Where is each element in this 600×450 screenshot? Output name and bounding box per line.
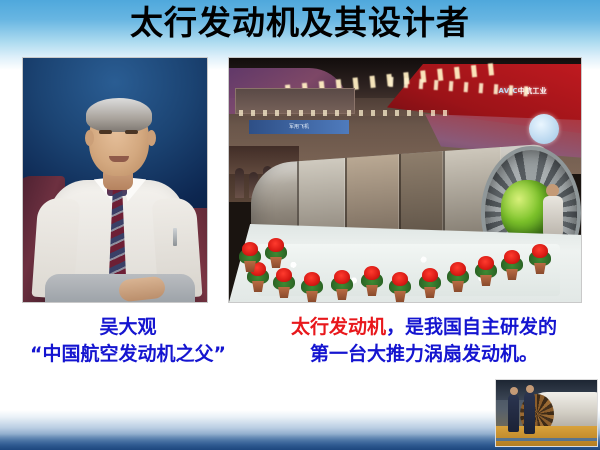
engine-photo: AVIC中航工业 军用飞机: [228, 57, 582, 303]
slide-title: 太行发动机及其设计者: [0, 2, 600, 46]
smiling-mouth: [109, 156, 129, 162]
engine-caption-line1: 太行发动机，是我国自主研发的: [248, 314, 600, 341]
technician-figure: [524, 392, 535, 434]
engine-emblem: [529, 114, 559, 144]
technician-figure: [508, 394, 519, 432]
flower-border: [229, 232, 581, 302]
eye-left: [99, 130, 112, 134]
portrait-caption: 吴大观 “中国航空发动机之父”: [0, 314, 256, 368]
engine-caption-line2: 第一台大推力涡扇发动机。: [248, 341, 600, 368]
floor-stripe: [496, 438, 597, 441]
booth-sign: 军用飞机: [249, 120, 349, 134]
ear-left: [85, 130, 94, 146]
eye-right: [125, 130, 138, 134]
engine-name-highlight: 太行发动机: [291, 316, 386, 338]
pocket-pen: [173, 228, 177, 246]
ear-right: [147, 130, 156, 146]
workshop-thumbnail: [495, 379, 598, 447]
visitor-figure: [235, 168, 244, 198]
portrait-photo: [22, 57, 208, 303]
portrait-caption-name: 吴大观: [0, 314, 256, 341]
grey-hair: [86, 98, 152, 132]
engine-caption: 太行发动机，是我国自主研发的 第一台大推力涡扇发动机。: [248, 314, 600, 368]
hall-railing: [239, 110, 449, 116]
portrait-caption-title: “中国航空发动机之父”: [0, 341, 256, 368]
engine-caption-line1-rest: ，是我国自主研发的: [386, 316, 557, 338]
